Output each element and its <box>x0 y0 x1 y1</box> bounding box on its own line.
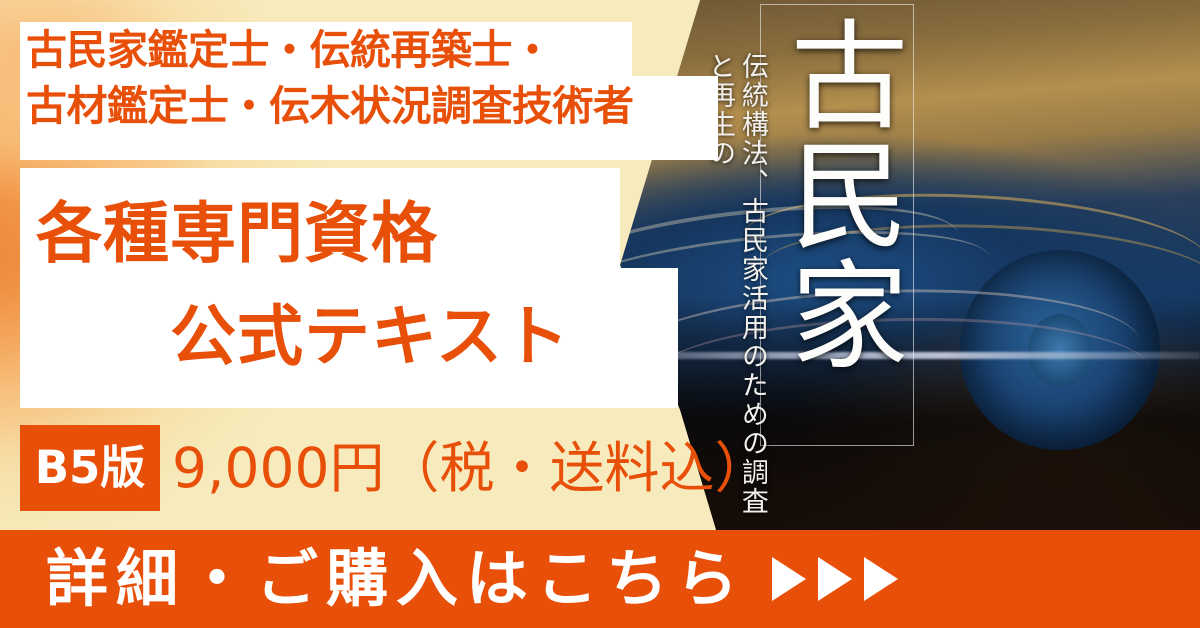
cta-arrows <box>772 557 898 601</box>
chevron-right-icon <box>818 557 852 601</box>
chevron-right-icon <box>864 557 898 601</box>
promo-banner: 古民家 伝統構法、古民家活用のための調査と再生の 古民家鑑定士・伝統再築士・ 古… <box>0 0 1200 628</box>
cta-label: 詳細・ご購入はこちら <box>46 530 746 628</box>
page-title: 古民家鑑定士・伝統再築士・ 古材鑑定士・伝木状況調査技術者 <box>20 22 740 134</box>
cta-bar[interactable]: 詳細・ご購入はこちら <box>0 530 1200 628</box>
slogan-line-1: 各種専門資格 <box>20 182 680 285</box>
chevron-right-icon <box>772 557 806 601</box>
roof-tile-medallion <box>960 250 1160 450</box>
carved-wood-swirl-icon <box>968 0 1200 209</box>
format-badge: B5版 <box>20 425 160 511</box>
book-title: 古民家 <box>768 14 908 374</box>
heading-line-1: 古民家鑑定士・伝統再築士・ <box>20 22 740 78</box>
slogan-line-2: 公式テキスト <box>20 285 680 388</box>
heading-line-2: 古材鑑定士・伝木状況調査技術者 <box>20 78 740 134</box>
price-text: 9,000円（税・送料込） <box>172 425 769 511</box>
slogan-text: 各種専門資格 公式テキスト <box>20 182 680 388</box>
